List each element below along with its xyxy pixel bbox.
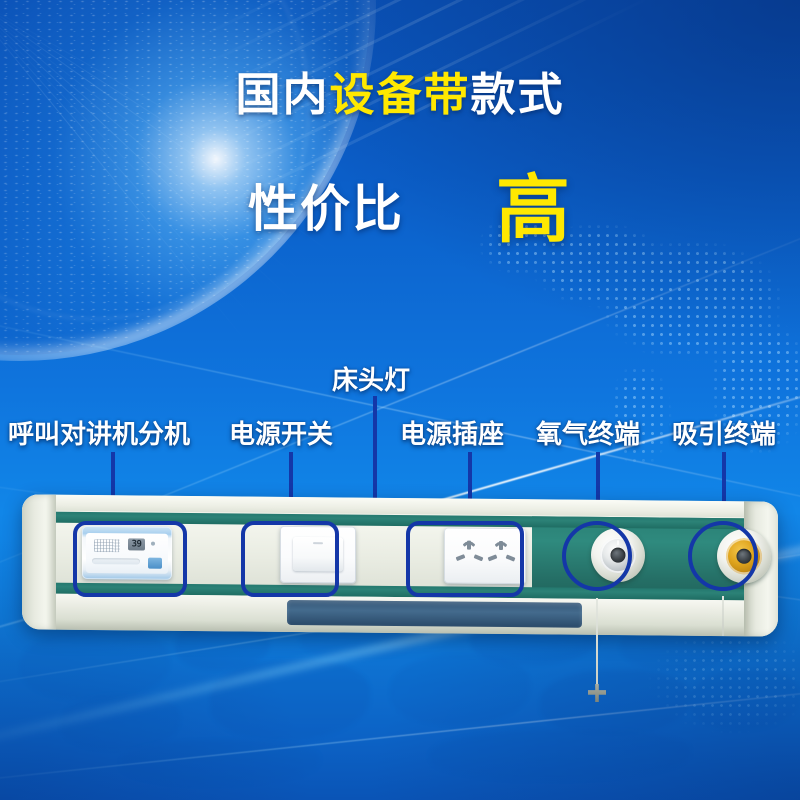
callout-label-switch: 电源开关 — [229, 414, 333, 451]
headline-line2-yellow: 高 — [496, 168, 570, 251]
pull-cord-suction[interactable] — [722, 596, 724, 636]
callout-label-suction: 吸引终端 — [672, 414, 776, 451]
oxygen-terminal-outlet[interactable] — [591, 528, 645, 583]
headline-line1-white-a: 国内 — [235, 69, 329, 120]
socket-port-right[interactable] — [487, 541, 516, 569]
socket-port-left[interactable] — [455, 541, 484, 569]
headline-line1-yellow: 设备带 — [329, 69, 470, 120]
panel-reflective-band — [287, 600, 582, 628]
oxygen-terminal-face — [600, 537, 636, 573]
headline-block: 国内设备带款式 性价比高 — [0, 72, 800, 248]
oxygen-terminal-tick-icon — [617, 540, 619, 545]
panel-end-cap-left — [22, 494, 56, 629]
suction-terminal-outlet[interactable] — [717, 529, 771, 584]
intercom-mic-slot — [92, 558, 140, 564]
panel-body: 39 — [22, 494, 778, 636]
suction-terminal-face — [726, 538, 762, 574]
headline-line-1: 国内设备带款式 — [0, 72, 800, 117]
suction-terminal-port-icon — [737, 549, 752, 564]
headline-line2-white: 性价比 — [248, 181, 404, 237]
pull-cord-oxygen[interactable] — [596, 598, 598, 690]
indicator-led-icon — [151, 542, 155, 546]
callout-label-oxygen: 氧气终端 — [536, 414, 640, 451]
headline-line1-white-b: 款式 — [471, 69, 565, 120]
callout-label-intercom: 呼叫对讲机分机 — [8, 414, 190, 451]
callout-label-socket: 电源插座 — [400, 414, 504, 451]
speaker-grille-icon — [94, 539, 120, 552]
headline-line-2: 性价比高 — [0, 141, 800, 248]
intercom-face: 39 — [86, 533, 168, 574]
bed-head-panel: 39 — [22, 498, 778, 633]
intercom-display: 39 — [128, 538, 145, 550]
intercom-call-button[interactable] — [148, 558, 162, 569]
oxygen-terminal-port-icon — [611, 548, 626, 563]
power-switch-rocker[interactable] — [293, 537, 343, 571]
switch-marking-icon — [313, 542, 323, 544]
power-switch-plate[interactable] — [280, 526, 356, 584]
callout-label-bedlamp: 床头灯 — [332, 360, 410, 397]
power-socket-outlet[interactable] — [444, 527, 526, 584]
nurse-call-intercom-unit[interactable]: 39 — [82, 526, 172, 580]
